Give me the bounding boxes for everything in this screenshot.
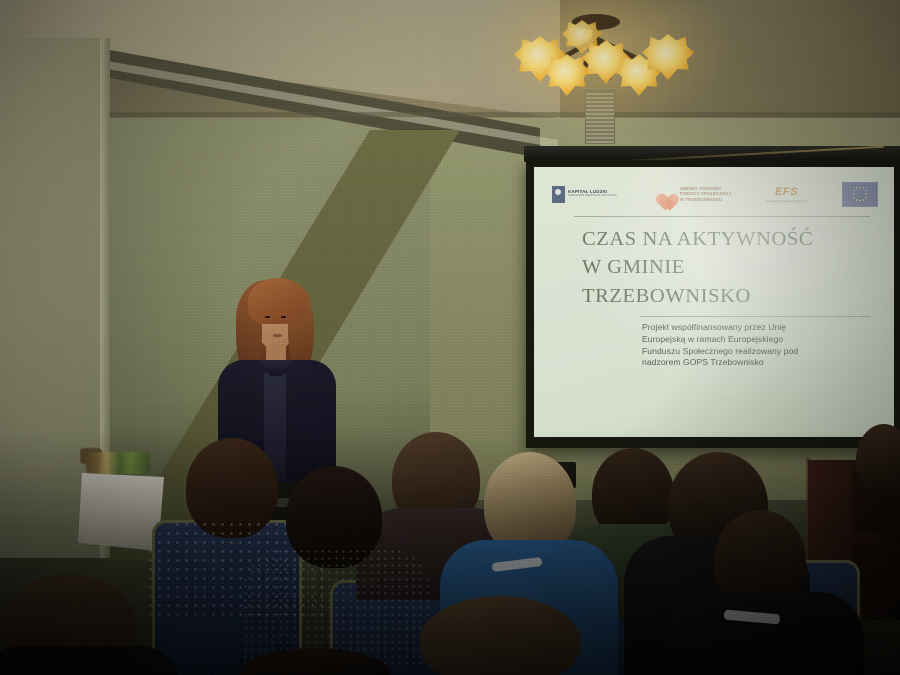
eu-star-icon: [859, 187, 861, 189]
slide-subtitle-line-3: Funduszu Społecznego realizowany pod: [642, 346, 874, 358]
slide-content: KAPITAŁ LUDZKI NARODOWA STRATEGIA SPÓJNO…: [534, 167, 894, 437]
kapital-ludzki-logo: KAPITAŁ LUDZKI NARODOWA STRATEGIA SPÓJNO…: [552, 186, 617, 203]
refreshments: [86, 452, 150, 474]
ceiling-wall-seam: [0, 112, 900, 117]
audience-member-short-dark-shoulders: [664, 592, 864, 675]
gops-line3: W TRZEBOWNISKU: [680, 197, 731, 202]
slide-title-line-1: CZAS NA AKTYWNOŚĆ: [582, 225, 882, 253]
eu-star-icon: [853, 190, 855, 192]
eu-stars: [843, 183, 877, 206]
presenter-mouth: [273, 334, 282, 337]
gops-line2: POMOCY SPOŁECZNEJ: [680, 191, 731, 196]
slide-logo-bar: KAPITAŁ LUDZKI NARODOWA STRATEGIA SPÓJNO…: [548, 177, 882, 211]
slide-title-line-2: W GMINIE: [582, 253, 882, 281]
eu-flag-icon: [842, 182, 878, 207]
eu-star-icon: [859, 200, 861, 202]
audience-member-far-right: [856, 424, 900, 496]
eu-star-icon: [856, 199, 858, 201]
heart-icon: [652, 185, 673, 204]
slide-rule-top: [574, 216, 870, 217]
slide-subtitle-line-2: Europejską w ramach Europejskiego: [642, 334, 874, 346]
eu-star-icon: [853, 197, 855, 199]
slide-subtitle-line-4: nadzorem GOPS Trzebownisko: [642, 357, 874, 369]
audience-member-front-left-shoulders: [0, 646, 180, 675]
efs-mark: EFS: [766, 186, 807, 198]
slide-title-line-3: TRZEBOWNISKO: [582, 282, 882, 310]
kapital-ludzki-mark-icon: [552, 186, 565, 203]
presenter-hair-front: [248, 278, 308, 324]
slide-subtitle-line-1: Projekt współfinansowany przez Unię: [642, 322, 874, 334]
eu-star-icon: [853, 193, 855, 195]
eu-star-icon: [865, 190, 867, 192]
gops-heart-logo: GMINNY OŚRODEK POMOCY SPOŁECZNEJ W TRZEB…: [652, 185, 731, 204]
kapital-ludzki-line2: NARODOWA STRATEGIA SPÓJNOŚCI: [568, 195, 617, 198]
screen-frame: KAPITAŁ LUDZKI NARODOWA STRATEGIA SPÓJNO…: [526, 160, 900, 448]
slide-rule-mid: [640, 316, 870, 317]
eu-star-icon: [866, 193, 868, 195]
screen-surface: KAPITAŁ LUDZKI NARODOWA STRATEGIA SPÓJNO…: [534, 167, 894, 437]
projection-screen: KAPITAŁ LUDZKI NARODOWA STRATEGIA SPÓJNO…: [524, 146, 900, 458]
eu-star-icon: [863, 199, 865, 201]
slide-subtitle: Projekt współfinansowany przez Unię Euro…: [642, 322, 874, 369]
eu-star-icon: [865, 197, 867, 199]
slide-title: CZAS NA AKTYWNOŚĆ W GMINIE TRZEBOWNISKO: [582, 225, 882, 310]
ceiling-lamp: [500, 0, 690, 102]
efs-logo: EFS Europejski Fundusz Społeczny: [766, 186, 807, 203]
efs-subtitle: Europejski Fundusz Społeczny: [766, 200, 807, 203]
presentation-room-photo: KAPITAŁ LUDZKI NARODOWA STRATEGIA SPÓJNO…: [0, 0, 900, 675]
eu-star-icon: [856, 187, 858, 189]
eu-star-icon: [863, 187, 865, 189]
